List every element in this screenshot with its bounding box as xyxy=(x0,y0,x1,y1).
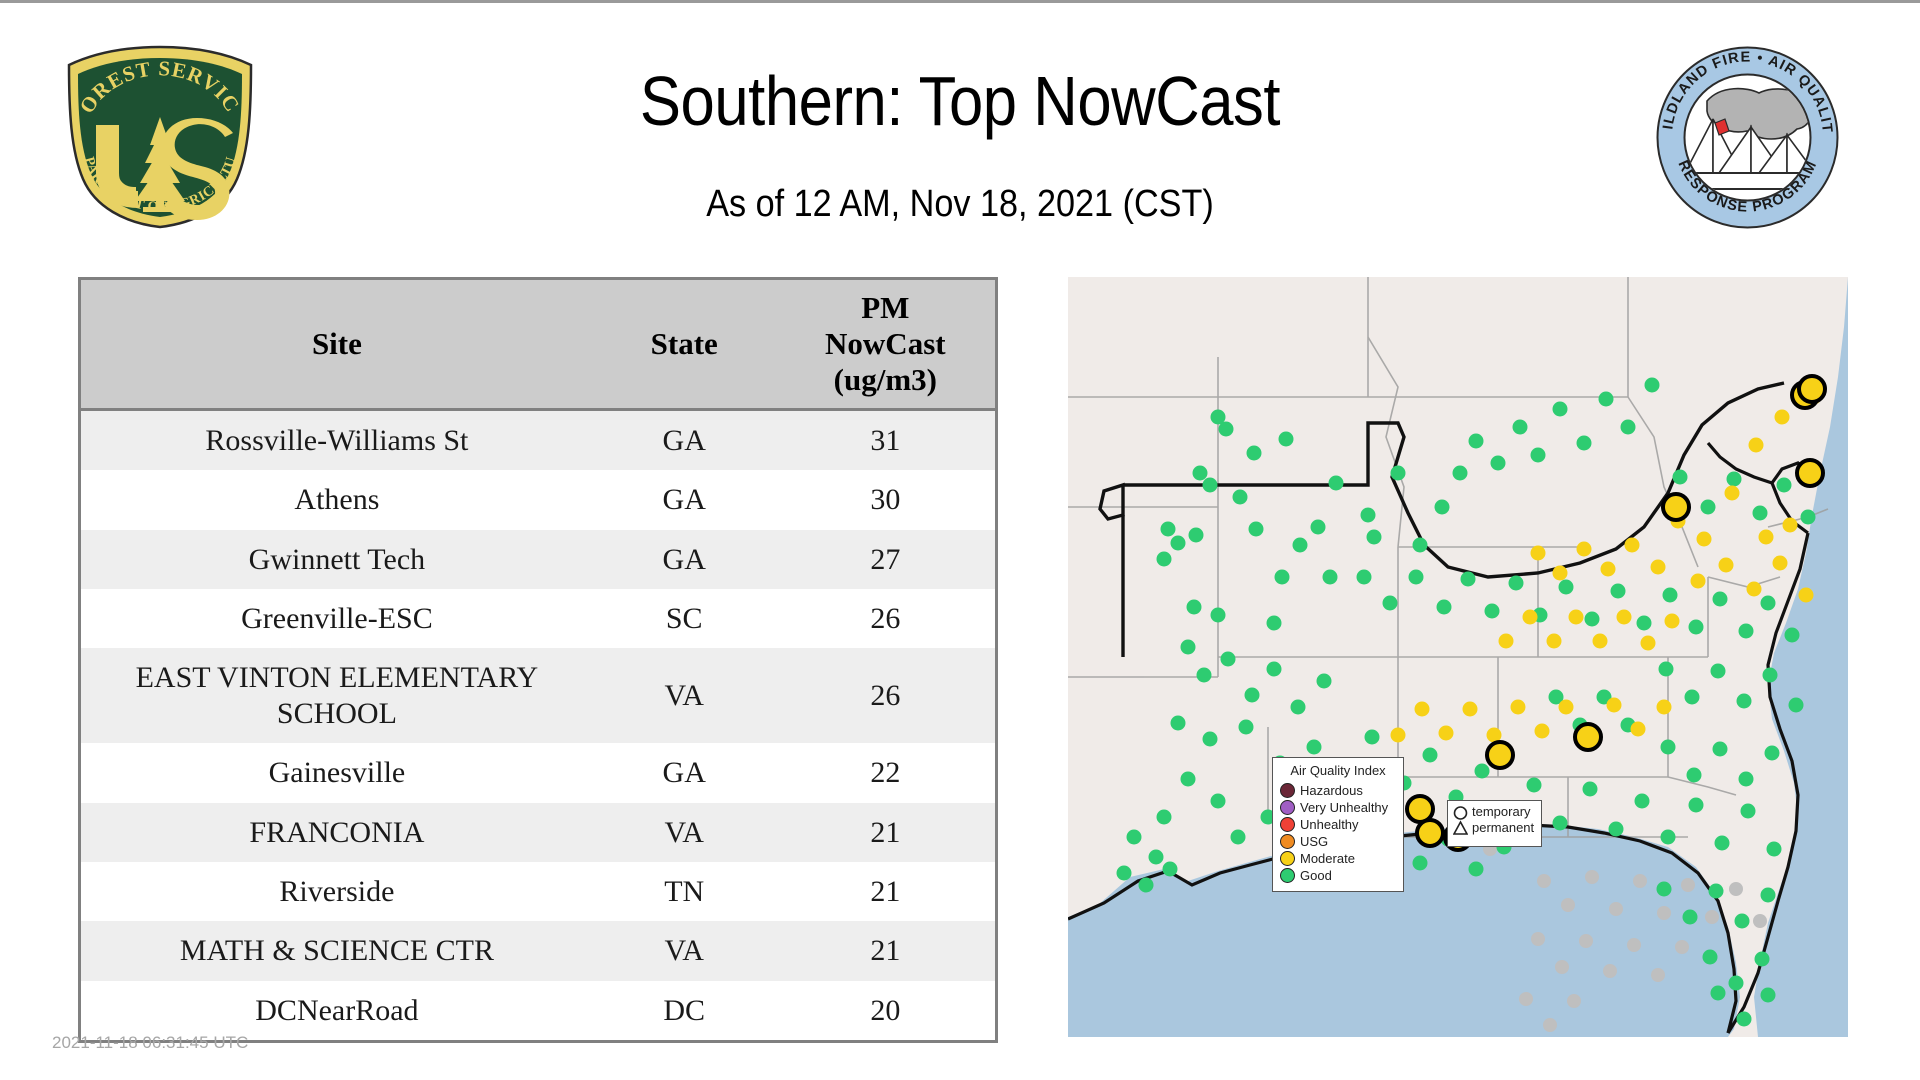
monitor-dot-good xyxy=(1659,662,1674,677)
monitor-dot-good xyxy=(1233,490,1248,505)
monitor-dot-good xyxy=(1741,804,1756,819)
column-header-site: Site xyxy=(81,280,593,409)
monitor-dot-good xyxy=(1291,700,1306,715)
monitor-dot-good xyxy=(1761,888,1776,903)
site-pm-nowcast: 31 xyxy=(776,409,995,470)
monitor-dot-good xyxy=(1413,856,1428,871)
monitor-dot-good xyxy=(1765,746,1780,761)
monitor-dot-good xyxy=(1801,510,1816,525)
monitor-dot-good xyxy=(1701,500,1716,515)
monitor-dot-moderate xyxy=(1569,610,1584,625)
monitor-dot-good xyxy=(1469,862,1484,877)
monitor-dot-good xyxy=(1311,520,1326,535)
monitor-dot-no-data xyxy=(1543,1018,1557,1032)
monitor-dot-moderate xyxy=(1553,566,1568,581)
aqi-legend-swatch-icon xyxy=(1280,868,1295,883)
monitor-dot-good xyxy=(1785,628,1800,643)
monitor-dot-moderate xyxy=(1665,614,1680,629)
monitor-dot-good xyxy=(1247,446,1262,461)
monitor-dot-good xyxy=(1715,836,1730,851)
table-row: FRANCONIAVA21 xyxy=(81,803,995,862)
aqi-legend-label: Unhealthy xyxy=(1300,817,1359,832)
monitor-dot-good xyxy=(1611,584,1626,599)
site-type-label-permanent: permanent xyxy=(1472,820,1534,836)
monitor-dot-good xyxy=(1139,878,1154,893)
monitor-map[interactable] xyxy=(1068,277,1848,1037)
aqi-legend-swatch-icon xyxy=(1280,783,1295,798)
monitor-dot-good xyxy=(1323,570,1338,585)
aqi-legend-row: Unhealthy xyxy=(1280,816,1396,833)
monitor-dot-moderate xyxy=(1577,542,1592,557)
temporary-circle-icon xyxy=(1455,807,1467,819)
site-name: FRANCONIA xyxy=(81,803,593,862)
monitor-dot-moderate xyxy=(1415,702,1430,717)
monitor-dot-good xyxy=(1219,422,1234,437)
monitor-dot-good xyxy=(1161,522,1176,537)
monitor-dot-good xyxy=(1149,850,1164,865)
monitor-dot-good xyxy=(1197,668,1212,683)
monitor-dot-good xyxy=(1739,624,1754,639)
site-name: Athens xyxy=(81,470,593,529)
monitor-dot-moderate xyxy=(1691,574,1706,589)
usda-forest-service-shield-logo: FOREST SERVICE DEPARTMENT OF AGRICULTURE xyxy=(55,41,265,231)
monitor-dot-moderate xyxy=(1499,634,1514,649)
site-name: Rossville-Williams St xyxy=(81,409,593,470)
monitor-dot-good xyxy=(1777,478,1792,493)
monitor-dot-good xyxy=(1735,914,1750,929)
aqi-legend-title: Air Quality Index xyxy=(1280,763,1396,778)
monitor-dot-no-data xyxy=(1519,992,1533,1006)
monitor-dot-top-site[interactable] xyxy=(1663,494,1689,520)
monitor-dot-good xyxy=(1789,698,1804,713)
monitor-dot-moderate xyxy=(1783,518,1798,533)
monitor-dot-moderate xyxy=(1523,610,1538,625)
monitor-dot-moderate xyxy=(1439,726,1454,741)
column-header-pm-nowcast: PM NowCast (ug/m3) xyxy=(776,280,995,409)
site-state: DC xyxy=(593,981,776,1040)
monitor-dot-top-site[interactable] xyxy=(1417,820,1443,846)
monitor-dot-good xyxy=(1461,572,1476,587)
site-pm-nowcast: 20 xyxy=(776,981,995,1040)
monitor-dot-good xyxy=(1689,620,1704,635)
monitor-dot-good xyxy=(1367,530,1382,545)
site-pm-nowcast: 22 xyxy=(776,743,995,802)
site-name: Gainesville xyxy=(81,743,593,802)
monitor-dot-good xyxy=(1211,608,1226,623)
monitor-dot-good xyxy=(1383,596,1398,611)
site-name: DCNearRoad xyxy=(81,981,593,1040)
table-row: RiversideTN21 xyxy=(81,862,995,921)
footer-timestamp: 2021-11-18 06:31:45 UTC xyxy=(52,1033,248,1053)
site-state: SC xyxy=(593,589,776,648)
monitor-dot-no-data xyxy=(1633,874,1647,888)
monitor-dot-good xyxy=(1753,506,1768,521)
monitor-dot-good xyxy=(1245,688,1260,703)
monitor-dot-moderate xyxy=(1607,698,1622,713)
monitor-dot-good xyxy=(1423,748,1438,763)
table-row: Rossville-Williams StGA31 xyxy=(81,409,995,470)
monitor-dot-good xyxy=(1713,742,1728,757)
monitor-dot-good xyxy=(1761,596,1776,611)
table-row: DCNearRoadDC20 xyxy=(81,981,995,1040)
monitor-dot-good xyxy=(1711,664,1726,679)
monitor-dot-no-data xyxy=(1681,878,1695,892)
monitor-dot-moderate xyxy=(1775,410,1790,425)
monitor-dot-good xyxy=(1267,662,1282,677)
site-pm-nowcast: 21 xyxy=(776,803,995,862)
monitor-dot-good xyxy=(1737,694,1752,709)
aqi-legend-label: Good xyxy=(1300,868,1332,883)
table-header: Site State PM NowCast (ug/m3) xyxy=(81,280,995,409)
monitor-dot-moderate xyxy=(1511,700,1526,715)
monitor-dot-good xyxy=(1621,420,1636,435)
monitor-dot-good xyxy=(1267,616,1282,631)
pm-header-line-2: NowCast xyxy=(780,326,991,362)
monitor-dot-good xyxy=(1553,816,1568,831)
monitor-dot-moderate xyxy=(1463,702,1478,717)
monitor-dot-no-data xyxy=(1579,934,1593,948)
monitor-dot-moderate xyxy=(1617,610,1632,625)
site-type-legend: temporary permanent xyxy=(1447,800,1542,847)
monitor-dot-good xyxy=(1475,764,1490,779)
monitor-dot-good xyxy=(1249,522,1264,537)
monitor-dot-good xyxy=(1609,822,1624,837)
monitor-dot-moderate xyxy=(1799,588,1814,603)
monitor-dot-good xyxy=(1577,436,1592,451)
pm-header-line-1: PM xyxy=(780,290,991,326)
permanent-triangle-icon xyxy=(1454,822,1467,834)
monitor-dot-good xyxy=(1767,842,1782,857)
pm-header-line-3: (ug/m3) xyxy=(780,362,991,398)
monitor-dot-good xyxy=(1683,910,1698,925)
monitor-dot-moderate xyxy=(1535,724,1550,739)
monitor-dot-good xyxy=(1361,508,1376,523)
monitor-dot-good xyxy=(1661,830,1676,845)
monitor-dot-moderate xyxy=(1531,546,1546,561)
monitor-dot-good xyxy=(1409,570,1424,585)
aqi-legend-row: Hazardous xyxy=(1280,782,1396,799)
monitor-dot-good xyxy=(1157,552,1172,567)
site-name: Gwinnett Tech xyxy=(81,530,593,589)
top-nowcast-table-container: Site State PM NowCast (ug/m3) Rossville-… xyxy=(78,277,998,1043)
monitor-dot-good xyxy=(1435,500,1450,515)
monitor-dot-good xyxy=(1317,674,1332,689)
monitor-dot-good xyxy=(1513,420,1528,435)
monitor-dot-moderate xyxy=(1625,538,1640,553)
monitor-dot-good xyxy=(1635,794,1650,809)
monitor-dot-no-data xyxy=(1627,938,1641,952)
monitor-dot-moderate xyxy=(1651,560,1666,575)
monitor-dot-good xyxy=(1437,600,1452,615)
site-state: GA xyxy=(593,409,776,470)
monitor-dot-top-site[interactable] xyxy=(1575,724,1601,750)
monitor-dot-good xyxy=(1599,392,1614,407)
monitor-dot-moderate xyxy=(1697,532,1712,547)
table-row: MATH & SCIENCE CTRVA21 xyxy=(81,921,995,980)
table-row: Gwinnett TechGA27 xyxy=(81,530,995,589)
monitor-dot-moderate xyxy=(1391,728,1406,743)
site-type-labels: temporary permanent xyxy=(1472,804,1534,836)
top-nowcast-table: Site State PM NowCast (ug/m3) Rossville-… xyxy=(81,280,995,1040)
monitor-dot-moderate xyxy=(1593,634,1608,649)
site-state: GA xyxy=(593,470,776,529)
site-state: VA xyxy=(593,648,776,743)
monitor-dot-good xyxy=(1553,402,1568,417)
monitor-dot-good xyxy=(1527,778,1542,793)
monitor-dot-good xyxy=(1687,768,1702,783)
monitor-dot-good xyxy=(1329,476,1344,491)
monitor-dot-good xyxy=(1181,640,1196,655)
monitor-dot-good xyxy=(1171,536,1186,551)
monitor-dot-good xyxy=(1663,588,1678,603)
site-name: Riverside xyxy=(81,862,593,921)
monitor-dot-good xyxy=(1391,466,1406,481)
monitor-dot-moderate xyxy=(1725,486,1740,501)
monitor-dot-good xyxy=(1729,976,1744,991)
monitor-dot-no-data xyxy=(1531,932,1545,946)
aqi-legend-swatch-icon xyxy=(1280,817,1295,832)
monitor-dot-good xyxy=(1645,378,1660,393)
monitor-dot-good xyxy=(1293,538,1308,553)
monitor-dot-no-data xyxy=(1651,968,1665,982)
monitor-dot-moderate xyxy=(1641,636,1656,651)
site-state: VA xyxy=(593,921,776,980)
monitor-dot-good xyxy=(1365,730,1380,745)
site-name: Greenville-ESC xyxy=(81,589,593,648)
monitor-dot-good xyxy=(1279,432,1294,447)
monitor-dot-no-data xyxy=(1585,870,1599,884)
monitor-dot-good xyxy=(1117,866,1132,881)
monitor-dot-good xyxy=(1689,798,1704,813)
monitor-dot-good xyxy=(1189,528,1204,543)
monitor-dot-good xyxy=(1485,604,1500,619)
air-quality-index-legend: Air Quality Index HazardousVery Unhealth… xyxy=(1272,757,1404,892)
monitor-dot-no-data xyxy=(1537,874,1551,888)
monitor-dot-moderate xyxy=(1657,700,1672,715)
monitor-dot-good xyxy=(1703,950,1718,965)
monitor-dot-no-data xyxy=(1753,914,1767,928)
monitor-dot-no-data xyxy=(1603,964,1617,978)
monitor-dot-no-data xyxy=(1561,898,1575,912)
table-row: AthensGA30 xyxy=(81,470,995,529)
monitor-dot-good xyxy=(1711,986,1726,1001)
monitor-dot-moderate xyxy=(1631,722,1646,737)
aqi-legend-label: Very Unhealthy xyxy=(1300,800,1388,815)
aqi-legend-row: Very Unhealthy xyxy=(1280,799,1396,816)
monitor-dot-good xyxy=(1727,472,1742,487)
site-type-label-temporary: temporary xyxy=(1472,804,1534,820)
monitor-dot-good xyxy=(1531,448,1546,463)
monitor-dot-good xyxy=(1231,830,1246,845)
monitor-dot-moderate xyxy=(1747,582,1762,597)
table-header-row: Site State PM NowCast (ug/m3) xyxy=(81,280,995,409)
monitor-dot-good xyxy=(1307,740,1322,755)
aqi-legend-rows: HazardousVery UnhealthyUnhealthyUSGModer… xyxy=(1280,782,1396,884)
monitor-dot-good xyxy=(1509,576,1524,591)
monitor-dot-good xyxy=(1163,862,1178,877)
table-row: Greenville-ESCSC26 xyxy=(81,589,995,648)
monitor-dot-good xyxy=(1583,782,1598,797)
page-subtitle: As of 12 AM, Nov 18, 2021 (CST) xyxy=(366,183,1554,226)
site-pm-nowcast: 26 xyxy=(776,648,995,743)
monitor-dot-moderate xyxy=(1547,634,1562,649)
monitor-dot-good xyxy=(1157,810,1172,825)
monitor-dot-good xyxy=(1413,538,1428,553)
site-state: TN xyxy=(593,862,776,921)
monitor-dot-good xyxy=(1211,794,1226,809)
aqi-legend-row: USG xyxy=(1280,833,1396,850)
monitor-dot-good xyxy=(1203,732,1218,747)
monitor-dot-good xyxy=(1453,466,1468,481)
site-pm-nowcast: 21 xyxy=(776,921,995,980)
monitor-dot-good xyxy=(1585,612,1600,627)
monitor-dot-moderate xyxy=(1601,562,1616,577)
aqi-legend-label: Hazardous xyxy=(1300,783,1363,798)
monitor-dot-good xyxy=(1637,616,1652,631)
monitor-dot-good xyxy=(1739,772,1754,787)
monitor-dot-good xyxy=(1709,884,1724,899)
site-state: VA xyxy=(593,803,776,862)
aqi-legend-label: Moderate xyxy=(1300,851,1355,866)
site-pm-nowcast: 26 xyxy=(776,589,995,648)
monitor-dot-no-data xyxy=(1657,906,1671,920)
table-body: Rossville-Williams StGA31AthensGA30Gwinn… xyxy=(81,409,995,1040)
site-type-glyphs xyxy=(1453,804,1468,842)
monitor-dot-moderate xyxy=(1559,700,1574,715)
monitor-dot-good xyxy=(1713,592,1728,607)
monitor-dot-no-data xyxy=(1567,994,1581,1008)
monitor-dot-no-data xyxy=(1729,882,1743,896)
monitor-dot-moderate xyxy=(1719,558,1734,573)
aqi-legend-row: Moderate xyxy=(1280,850,1396,867)
monitor-dot-good xyxy=(1559,580,1574,595)
monitor-dot-good xyxy=(1181,772,1196,787)
monitor-dot-good xyxy=(1491,456,1506,471)
aqi-legend-swatch-icon xyxy=(1280,800,1295,815)
site-name: EAST VINTON ELEMENTARY SCHOOL xyxy=(81,648,593,743)
monitor-dot-good xyxy=(1357,570,1372,585)
monitor-dot-moderate xyxy=(1749,438,1764,453)
monitor-dot-good xyxy=(1755,952,1770,967)
monitor-dot-good xyxy=(1673,470,1688,485)
monitor-dot-no-data xyxy=(1555,960,1569,974)
monitor-dot-top-site[interactable] xyxy=(1797,460,1823,486)
monitor-dot-good xyxy=(1685,690,1700,705)
aqi-legend-row: Good xyxy=(1280,867,1396,884)
monitor-dot-no-data xyxy=(1609,902,1623,916)
monitor-dot-good xyxy=(1661,740,1676,755)
monitor-dot-good xyxy=(1761,988,1776,1003)
site-pm-nowcast: 21 xyxy=(776,862,995,921)
aqi-legend-swatch-icon xyxy=(1280,851,1295,866)
site-pm-nowcast: 27 xyxy=(776,530,995,589)
nowcast-report-page: FOREST SERVICE DEPARTMENT OF AGRICULTURE xyxy=(0,0,1920,1080)
monitor-dot-good xyxy=(1127,830,1142,845)
table-row: EAST VINTON ELEMENTARY SCHOOLVA26 xyxy=(81,648,995,743)
monitor-dot-good xyxy=(1187,600,1202,615)
site-state: GA xyxy=(593,743,776,802)
site-pm-nowcast: 30 xyxy=(776,470,995,529)
site-name: MATH & SCIENCE CTR xyxy=(81,921,593,980)
monitor-dot-good xyxy=(1221,652,1236,667)
monitor-dot-good xyxy=(1239,720,1254,735)
monitor-dot-good xyxy=(1657,882,1672,897)
monitor-dot-top-site[interactable] xyxy=(1799,376,1825,402)
monitor-dot-good xyxy=(1171,716,1186,731)
monitor-dot-no-data xyxy=(1675,940,1689,954)
column-header-state: State xyxy=(593,280,776,409)
monitor-dot-good xyxy=(1193,466,1208,481)
aqi-legend-label: USG xyxy=(1300,834,1328,849)
table-row: GainesvilleGA22 xyxy=(81,743,995,802)
monitor-dot-top-site[interactable] xyxy=(1487,742,1513,768)
monitor-dot-good xyxy=(1275,570,1290,585)
site-state: GA xyxy=(593,530,776,589)
wfaqrp-logo: WILDLAND FIRE • AIR QUALITY RESPONSE PRO… xyxy=(1655,45,1840,230)
page-title: Southern: Top NowCast xyxy=(379,61,1541,141)
monitor-dot-moderate xyxy=(1773,556,1788,571)
aqi-legend-swatch-icon xyxy=(1280,834,1295,849)
monitor-dot-good xyxy=(1737,1012,1752,1027)
monitor-dot-good xyxy=(1469,434,1484,449)
monitor-dot-moderate xyxy=(1759,530,1774,545)
monitor-dot-good xyxy=(1203,478,1218,493)
monitor-dot-no-data xyxy=(1705,910,1719,924)
monitor-dot-good xyxy=(1763,668,1778,683)
